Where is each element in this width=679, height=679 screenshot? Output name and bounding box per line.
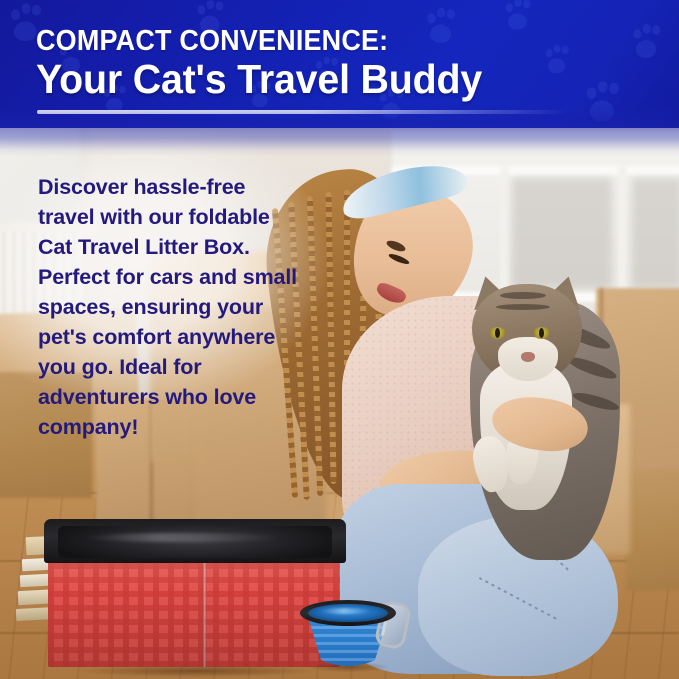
cat-pupil-left <box>495 328 500 338</box>
litter-box-interior-highlight <box>84 533 284 542</box>
banner-title: Your Cat's Travel Buddy <box>36 56 482 103</box>
litter-box-shading <box>48 557 340 667</box>
body-paragraph: Discover hassle-free travel with our fol… <box>38 172 300 442</box>
shelf-cubby-shadow <box>632 178 679 288</box>
litter-box-interior-lining <box>58 526 332 558</box>
banner-kicker: COMPACT CONVENIENCE: <box>36 25 388 58</box>
cat-forehead-stripe <box>496 304 550 310</box>
cat-forehead-stripe <box>500 292 546 299</box>
shelf-divider <box>618 166 627 296</box>
bowl-highlight <box>320 608 372 614</box>
litter-box-rim <box>44 519 346 563</box>
banner-bottom-fade <box>0 104 679 156</box>
collapsible-bowl-product <box>300 600 396 670</box>
cat-nose <box>521 352 535 362</box>
cardboard-box <box>626 470 679 590</box>
infographic-page: COMPACT CONVENIENCE: Your Cat's Travel B… <box>0 0 679 679</box>
cat-pupil-right <box>539 328 544 338</box>
